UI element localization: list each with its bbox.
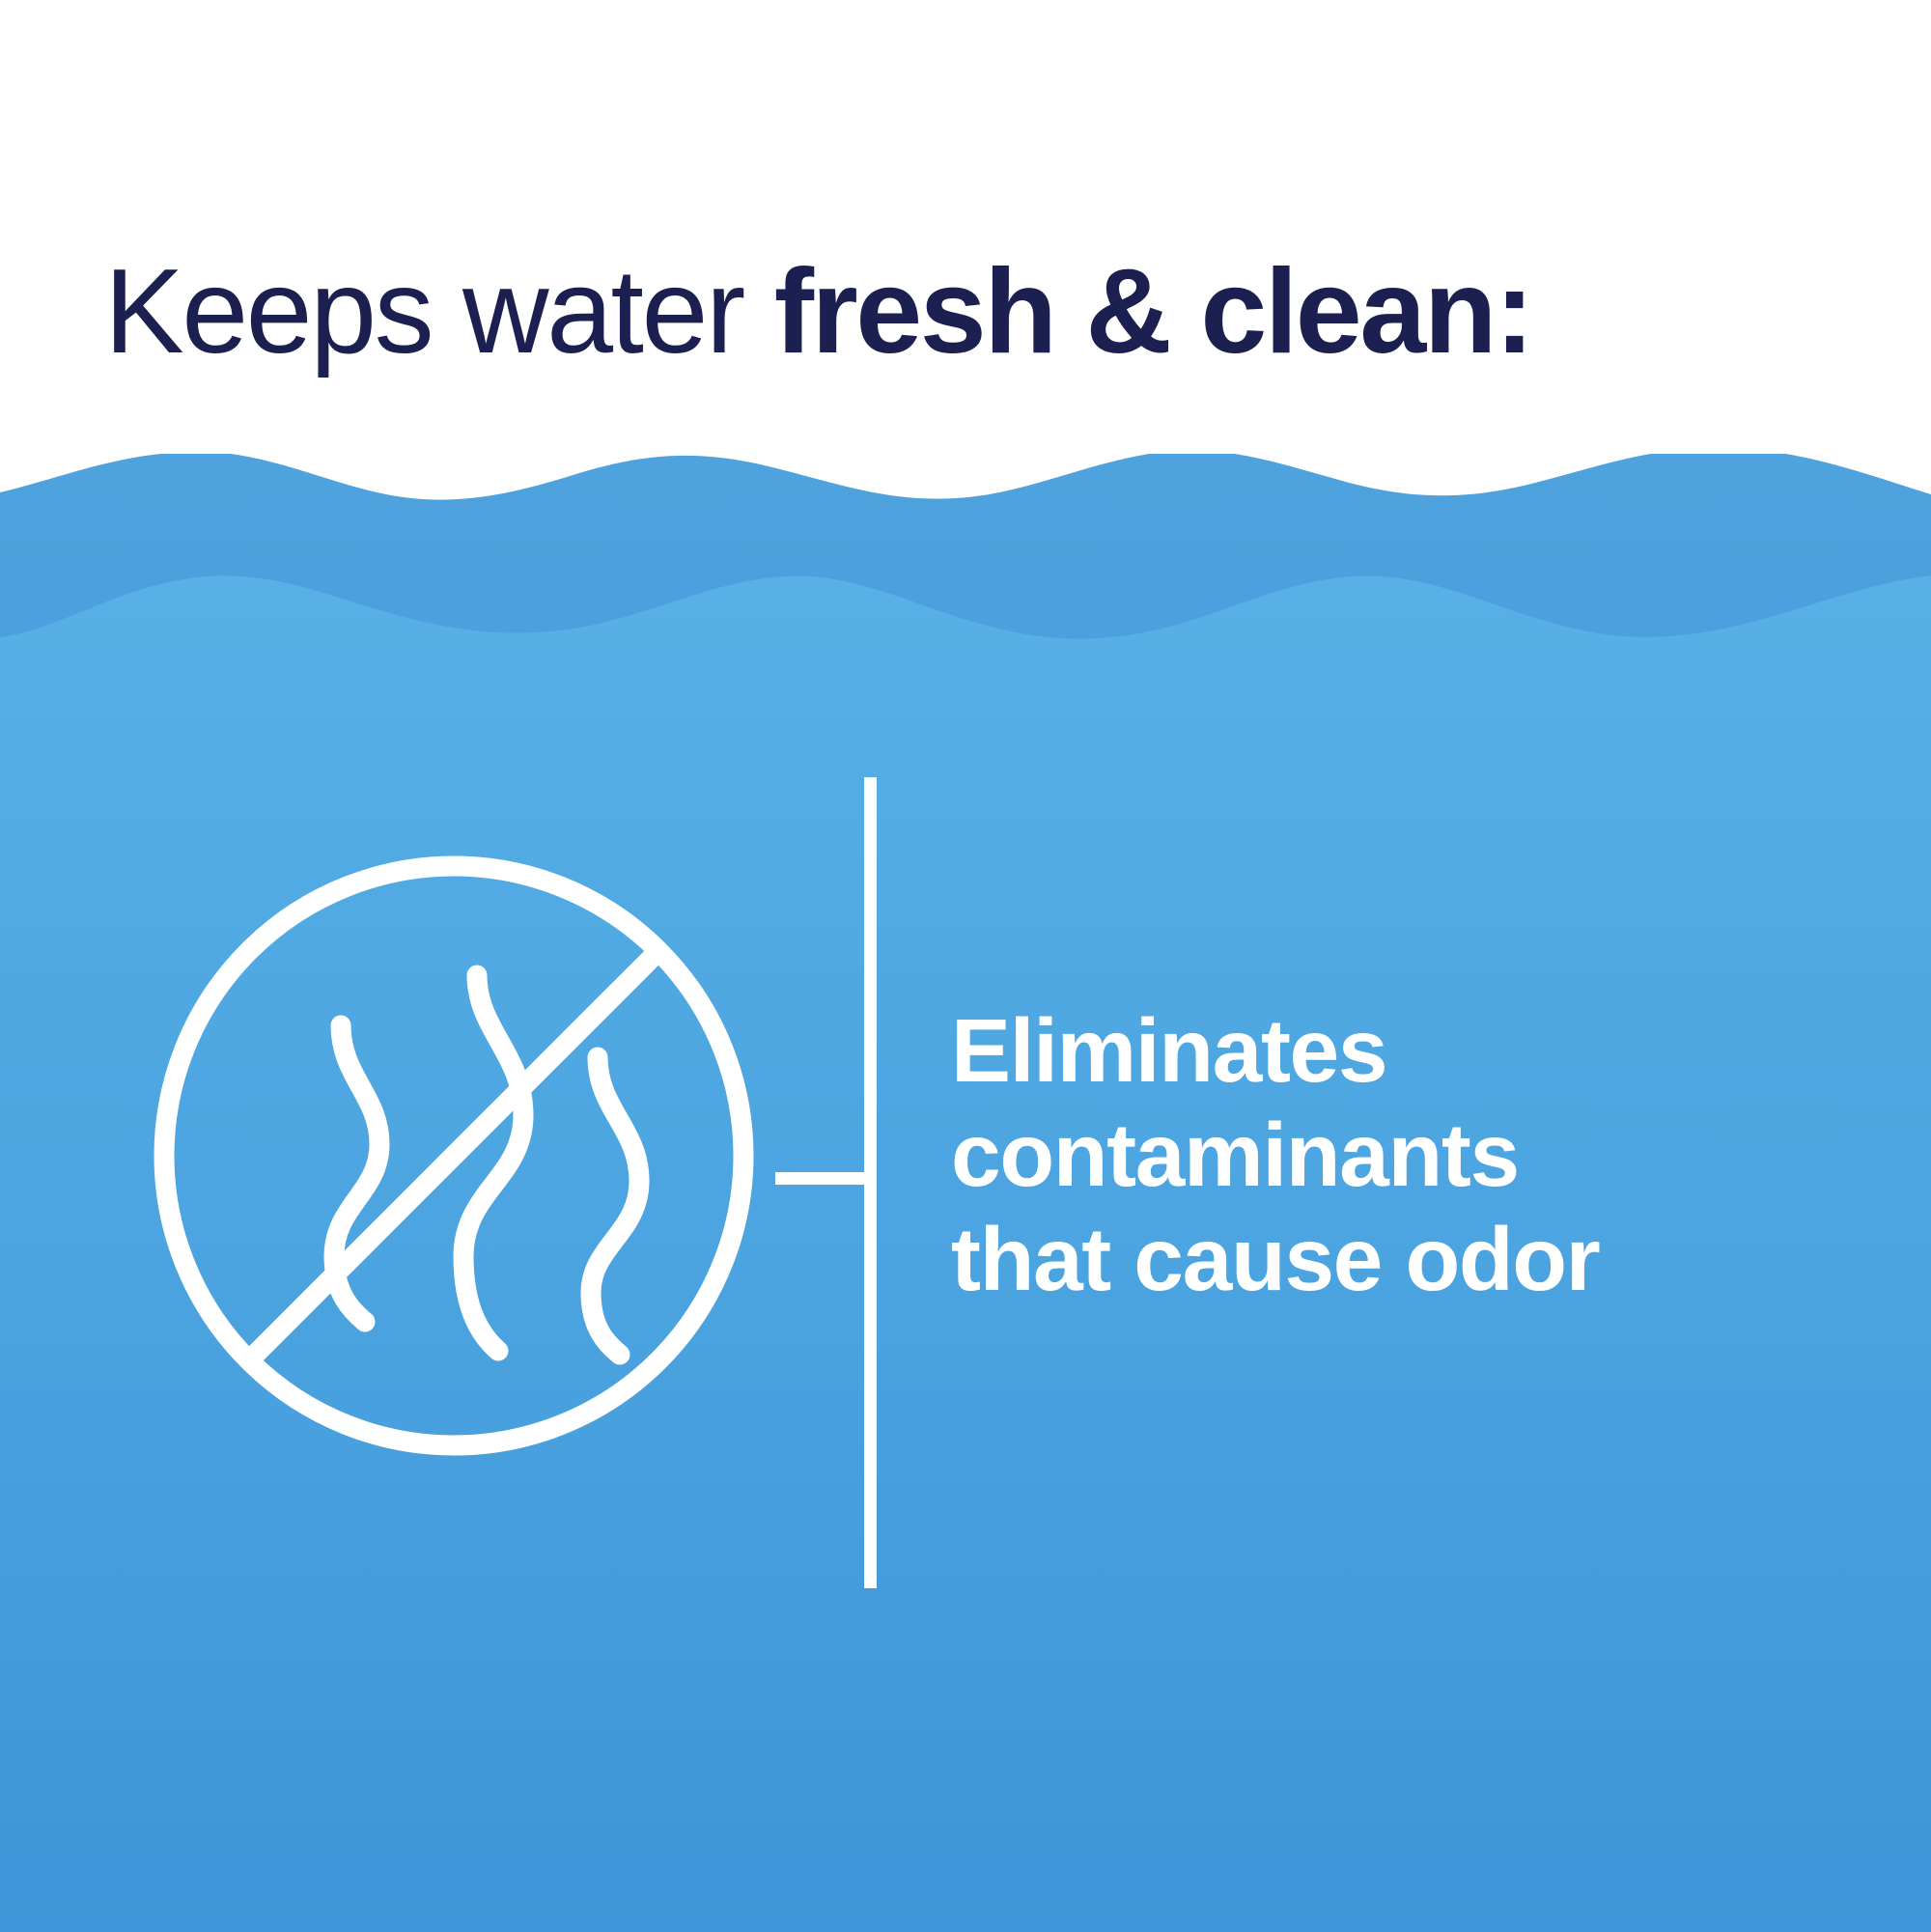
- connector-tick: [775, 1172, 872, 1185]
- feature-description: Eliminates contaminants that cause odor: [951, 999, 1801, 1312]
- feature-content: Eliminates contaminants that cause odor: [0, 0, 1931, 1932]
- no-odor-icon-svg: [145, 847, 763, 1465]
- no-odor-icon: [145, 847, 763, 1465]
- odor-wave-left: [334, 1025, 379, 1322]
- connector: [763, 763, 888, 1603]
- connector-svg: [763, 763, 888, 1603]
- feature-line-1: Eliminates: [951, 999, 1801, 1104]
- infographic-canvas: Keeps water fresh & clean:: [0, 0, 1931, 1932]
- feature-line-3: that cause odor: [951, 1208, 1801, 1312]
- feature-line-2: contaminants: [951, 1104, 1801, 1208]
- odor-wave-right: [591, 1057, 639, 1355]
- odor-wave-middle: [463, 975, 523, 1351]
